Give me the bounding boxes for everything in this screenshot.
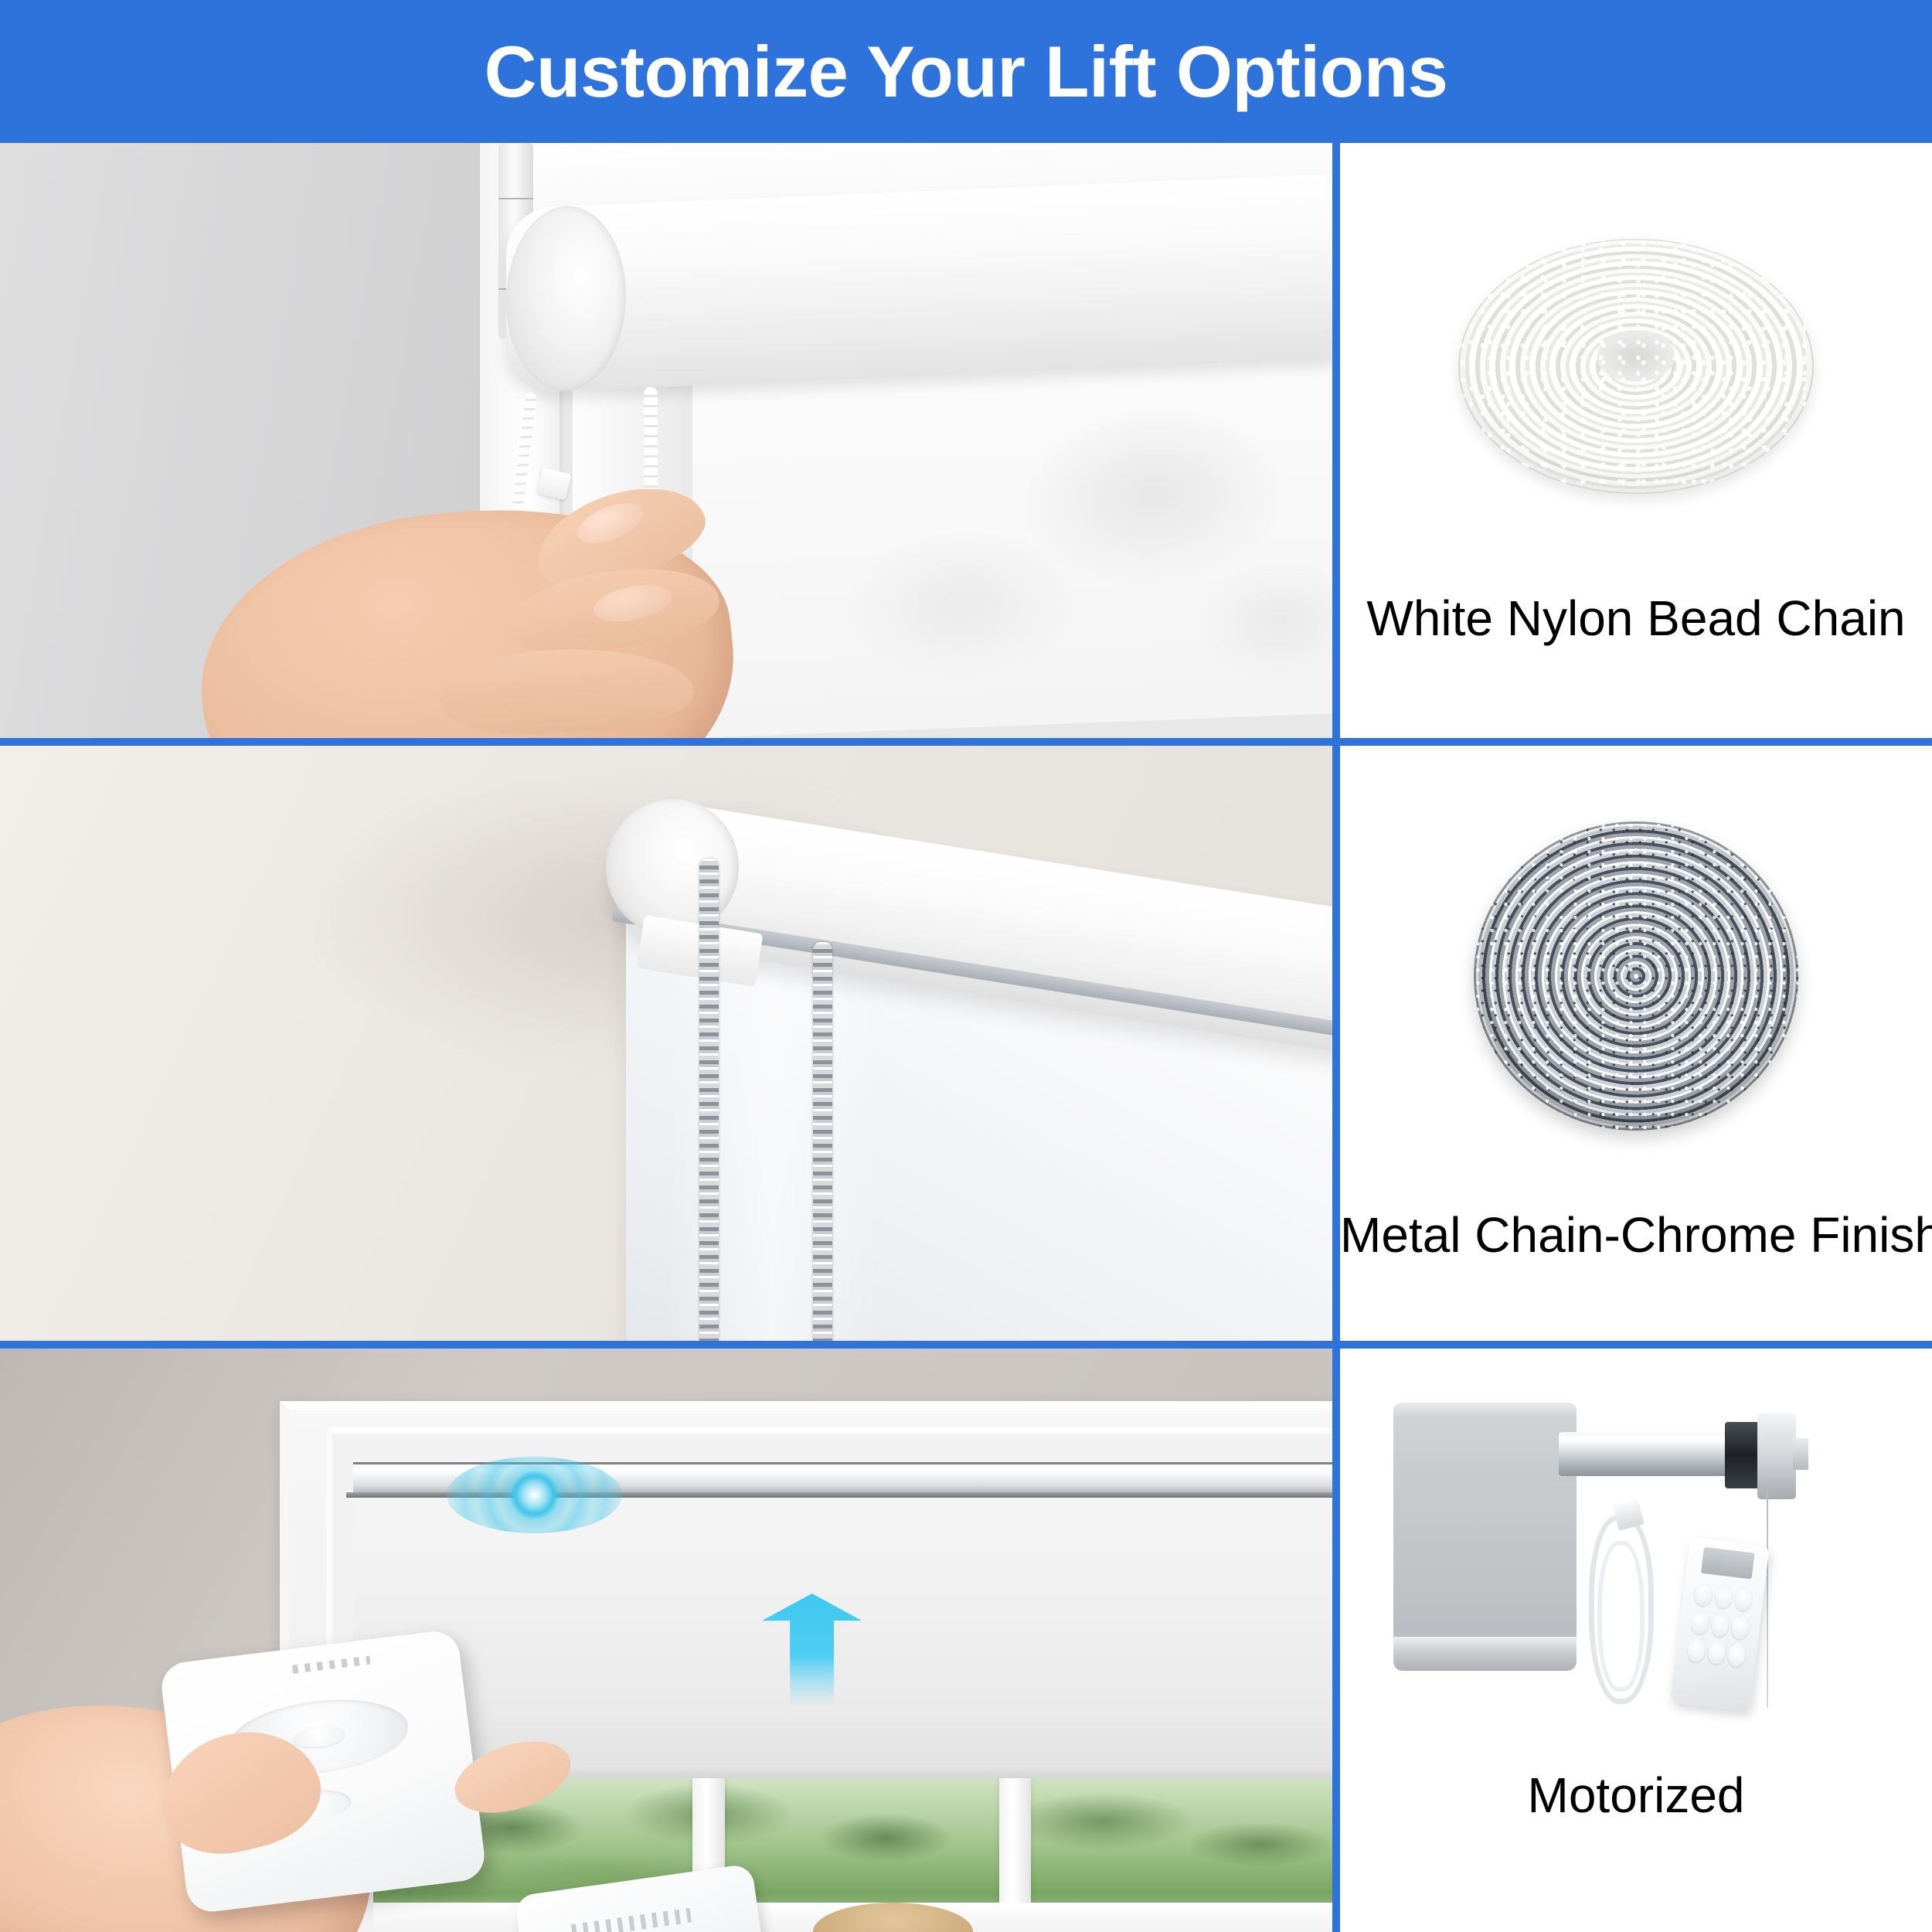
horizontal-divider: [0, 1341, 1932, 1349]
option-label-metal-chain-chrome-finish: Metal Chain-Chrome Finish: [1340, 1206, 1932, 1264]
remote-indicator-lights: [571, 1908, 692, 1932]
remote-key: [1687, 1637, 1707, 1663]
remote-keypad: [1687, 1581, 1754, 1668]
infographic-page: Customize Your Lift Options Hand pulling…: [0, 0, 1932, 1932]
remote-key: [1690, 1609, 1710, 1635]
metal-bead-chain-left: [699, 859, 719, 1341]
lifestyle-photo-motorized: Hand holding a white remote control aime…: [0, 1349, 1332, 1932]
page-title: Customize Your Lift Options: [485, 36, 1448, 108]
roller-bottom-rail: [1393, 1637, 1577, 1670]
product-figure: [1340, 143, 1932, 590]
remote-key: [1733, 1586, 1753, 1612]
remote-screen: [1701, 1546, 1755, 1579]
remote-key: [1730, 1614, 1750, 1640]
remote-control: [1671, 1536, 1770, 1712]
horizontal-divider: [0, 738, 1932, 746]
header-banner: Customize Your Lift Options: [0, 0, 1932, 143]
chrome-bead-chain-coil-icon: [1474, 821, 1798, 1131]
sheer-curtain: [666, 960, 879, 1341]
remote-key: [1694, 1581, 1714, 1607]
motorized-kit-icon: [1340, 1349, 1932, 1767]
shade-fabric-pattern: [692, 351, 1332, 738]
vertical-divider: [1332, 746, 1340, 1341]
roller-fabric: [1393, 1420, 1577, 1654]
motor-mounting-pin: [1793, 1438, 1808, 1470]
motor-antenna: [1767, 1491, 1768, 1708]
option-label-white-nylon-bead-chain: White Nylon Bead Chain: [1340, 590, 1932, 647]
charging-cable-coil: [1597, 1541, 1645, 1692]
up-arrow-icon: [762, 1594, 862, 1707]
lifestyle-photo-metal-chain-chrome-finish: White roller shade with chrome metal bea…: [0, 746, 1332, 1341]
vertical-divider: [1332, 1349, 1340, 1932]
remote-key: [1710, 1611, 1730, 1638]
options-grid: Hand pulling a white nylon bead chain on…: [0, 143, 1932, 1932]
option-card-metal-chain-chrome-finish[interactable]: Metal Chain-Chrome Finish Coil of chrome…: [1340, 746, 1932, 1341]
roller-tube: [506, 172, 1332, 393]
option-card-motorized[interactable]: Motorized Motorized roller tube with tub…: [1340, 1349, 1932, 1932]
rf-signal-rings-icon: [447, 1457, 623, 1534]
product-figure: [1340, 1349, 1932, 1767]
motor-end-cap: [1757, 1413, 1796, 1499]
remote-key: [1714, 1583, 1734, 1610]
remote-key: [1727, 1641, 1747, 1668]
option-card-white-nylon-bead-chain[interactable]: White Nylon Bead Chain Coil of white nyl…: [1340, 143, 1932, 738]
vertical-divider: [1332, 143, 1340, 738]
product-figure: [1340, 746, 1932, 1206]
option-label-motorized: Motorized: [1340, 1767, 1932, 1824]
remote-key: [1707, 1639, 1727, 1665]
remote-dpad-center-button[interactable]: [293, 1724, 345, 1750]
coil-center: [1597, 331, 1675, 382]
white-bead-chain-coil-icon: [1458, 239, 1814, 494]
remote-indicator-lights: [292, 1656, 370, 1674]
roller-tube: [1559, 1432, 1736, 1476]
lifestyle-photo-white-nylon-bead-chain: Hand pulling a white nylon bead chain on…: [0, 143, 1332, 738]
metal-bead-chain-right: [813, 942, 833, 1341]
